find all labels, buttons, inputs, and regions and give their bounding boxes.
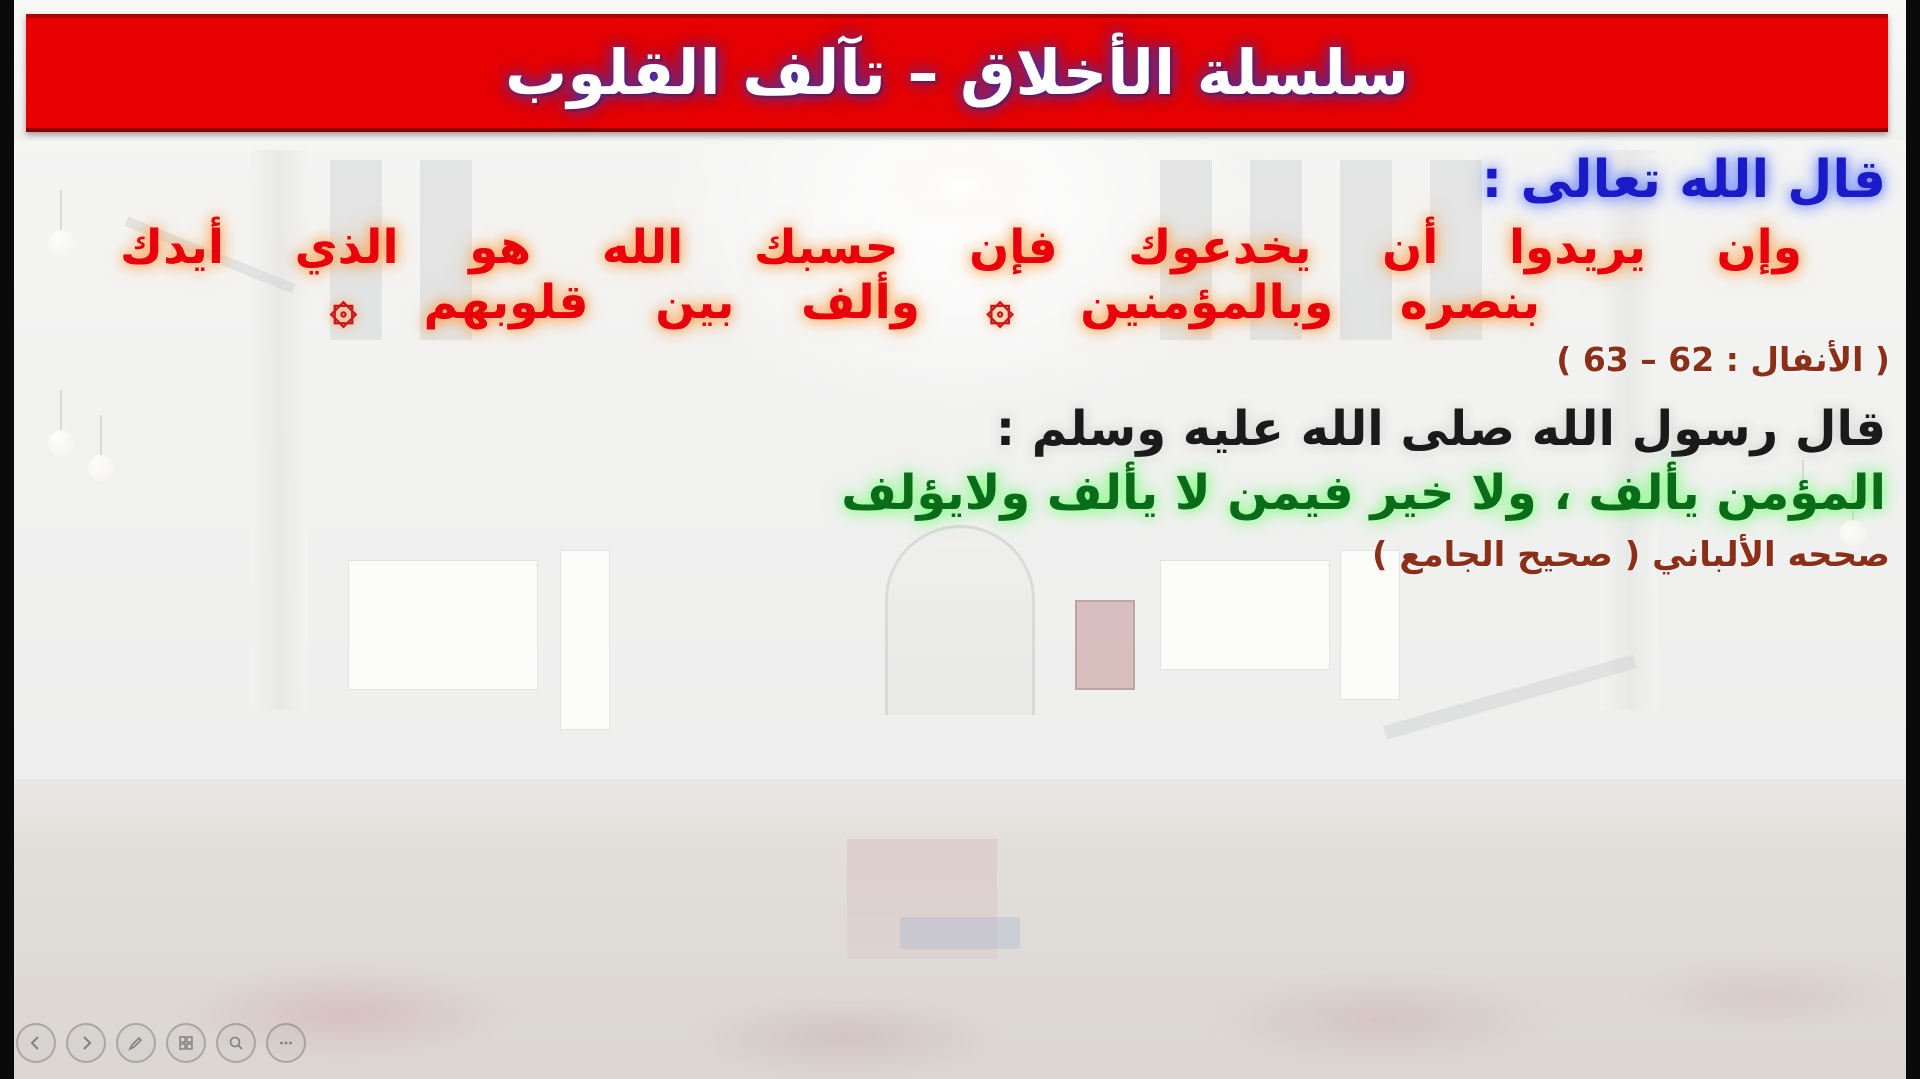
pen-tool-button[interactable] <box>116 1023 156 1063</box>
quran-intro-text: قال الله تعالى : <box>0 150 1920 210</box>
verse-ornament-icon: ۞ <box>330 279 357 333</box>
quran-verse-line-2: بنصره وبالمؤمنين ۞ وألف بين قلوبهم ۞ <box>0 275 1920 333</box>
quran-reference: ( الأنفال : 62 – 63 ) <box>0 340 1920 379</box>
more-options-button[interactable] <box>266 1023 306 1063</box>
presentation-toolbar[interactable] <box>16 1023 306 1063</box>
zoom-button[interactable] <box>216 1023 256 1063</box>
magnifier-icon <box>228 1035 244 1051</box>
slide-content: قال الله تعالى : وإن يريدوا أن يخدعوك فإ… <box>0 132 1920 952</box>
verse-ornament-icon: ۞ <box>987 279 1014 333</box>
quran-verse-line-1: وإن يريدوا أن يخدعوك فإن حسبك الله هو ال… <box>0 220 1920 275</box>
slide-overview-button[interactable] <box>166 1023 206 1063</box>
quran-verse-part-b: وألف بين قلوبهم <box>424 275 920 330</box>
page-title: سلسلة الأخلاق – تآلف القلوب <box>505 42 1409 104</box>
hadith-body-text: المؤمن يألف ، ولا خير فيمن لا يألف ولايؤ… <box>0 465 1920 521</box>
next-slide-button[interactable] <box>66 1023 106 1063</box>
hadith-attribution: صححه الألباني ( صحيح الجامع ) <box>0 535 1920 575</box>
hadith-intro-text: قال رسول الله صلى الله عليه وسلم : <box>0 401 1920 457</box>
grid-icon <box>178 1035 194 1051</box>
pen-icon <box>128 1035 144 1051</box>
previous-slide-button[interactable] <box>16 1023 56 1063</box>
screen-edge-right <box>1906 0 1920 1079</box>
ellipsis-icon <box>278 1035 294 1051</box>
chevron-left-icon <box>28 1035 44 1051</box>
slide-title-bar: سلسلة الأخلاق – تآلف القلوب <box>26 14 1888 132</box>
screen-edge-left <box>0 0 14 1079</box>
presentation-slide: سلسلة الأخلاق – تآلف القلوب قال الله تعا… <box>0 0 1920 1079</box>
chevron-right-icon <box>78 1035 94 1051</box>
quran-verse-part-a: بنصره وبالمؤمنين <box>1080 275 1540 330</box>
